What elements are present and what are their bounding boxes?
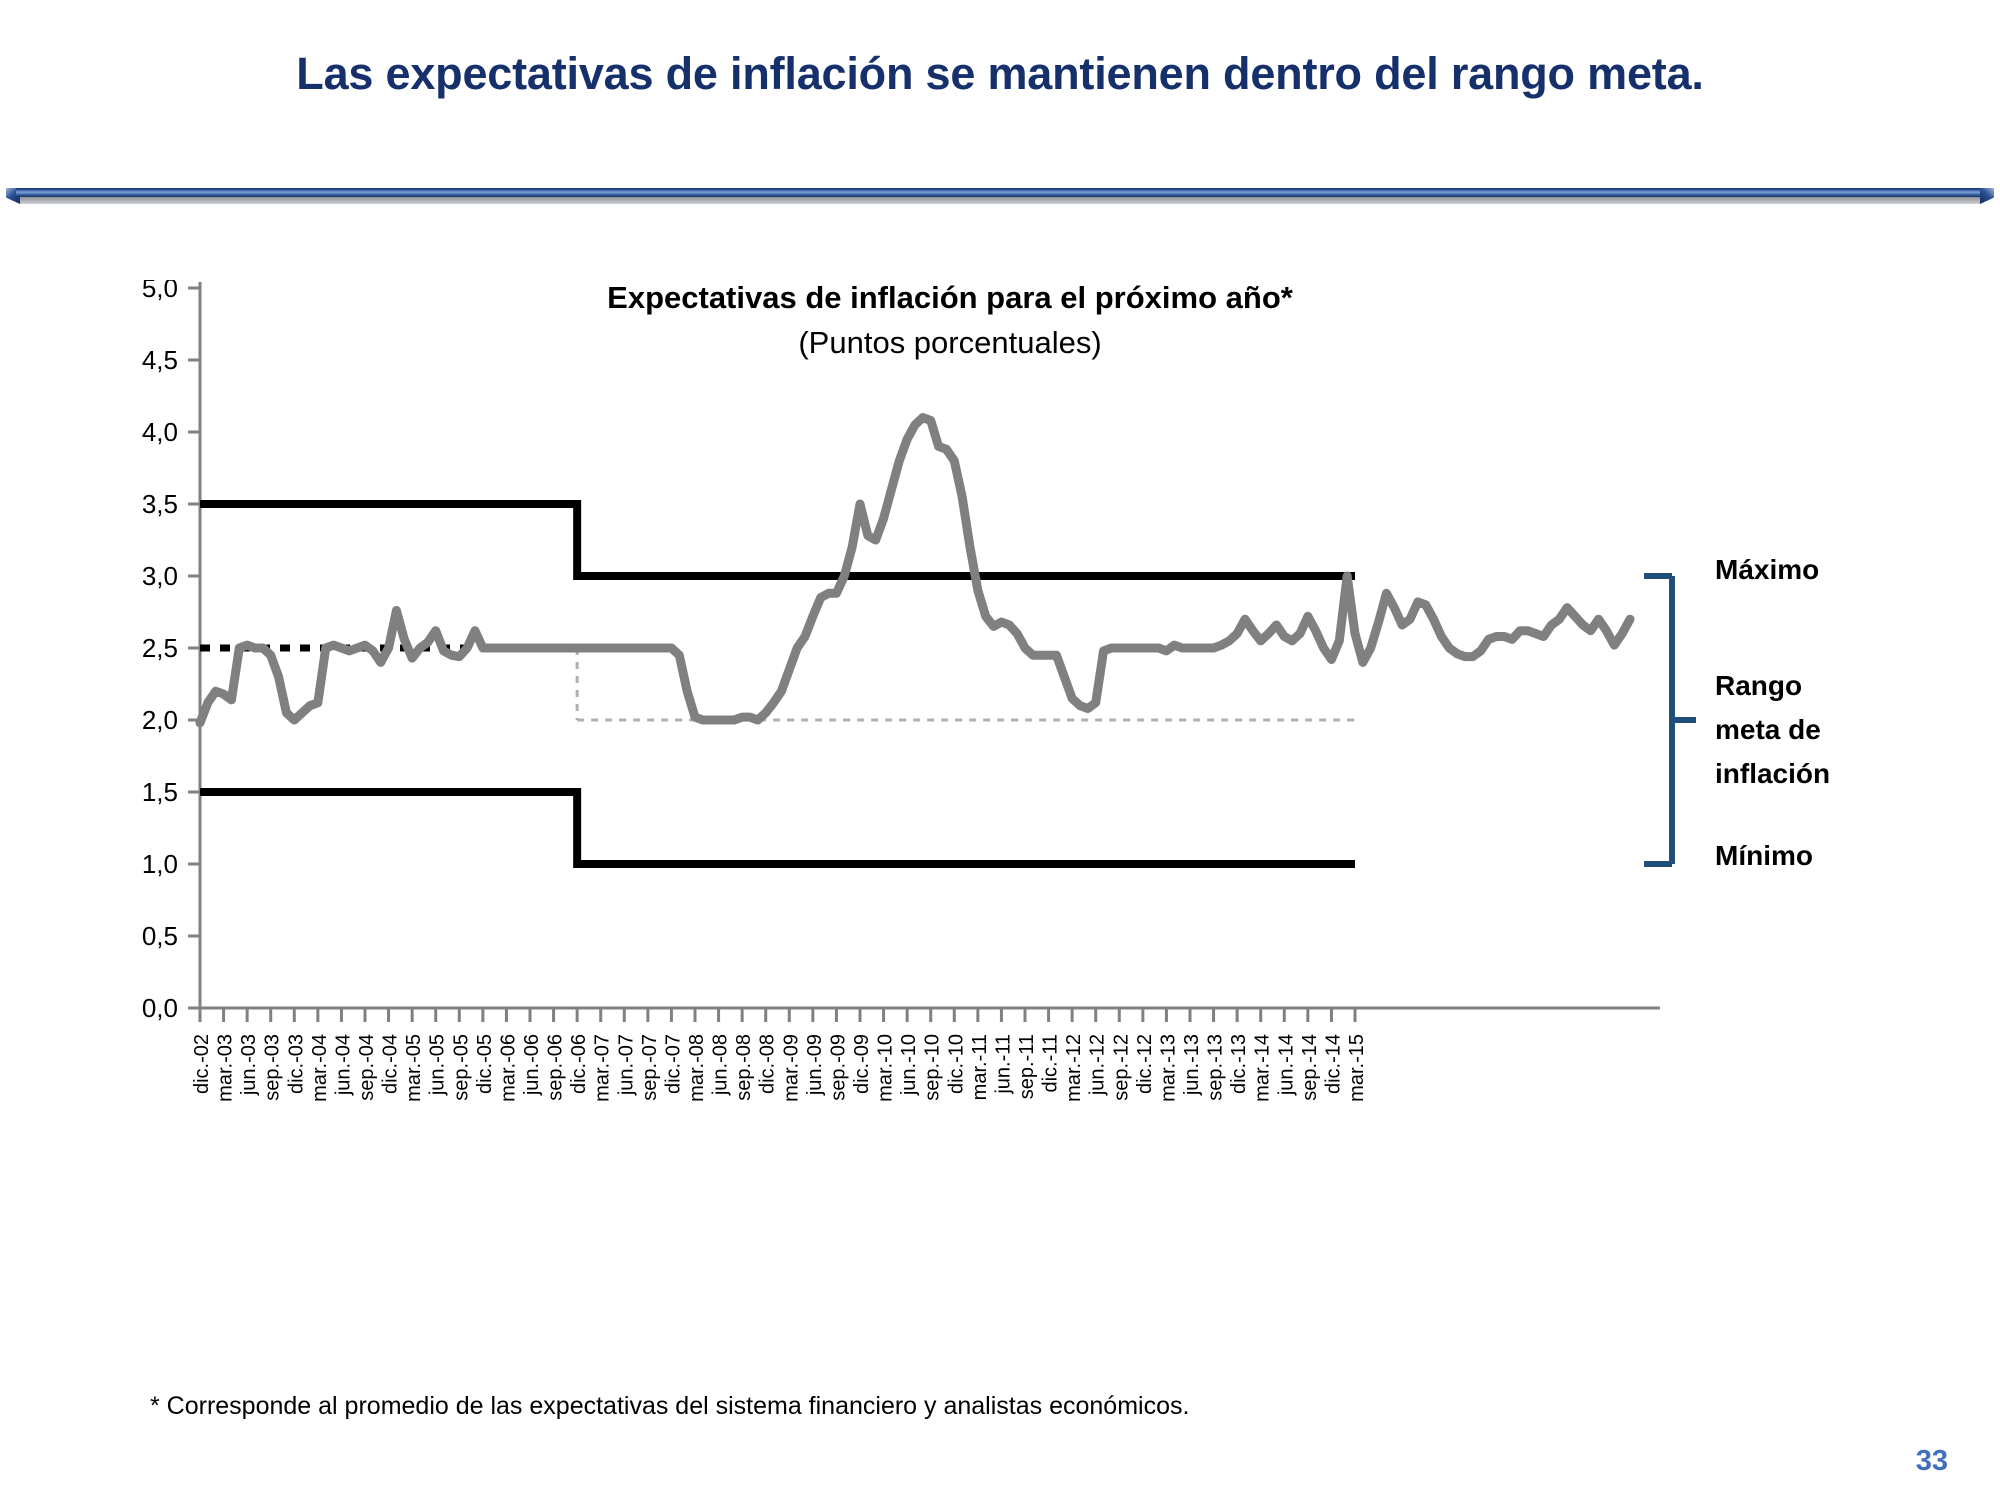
svg-text:mar.-07: mar.-07 — [592, 1034, 614, 1102]
divider-blue-bar — [16, 188, 1984, 197]
svg-text:mar.-15: mar.-15 — [1346, 1034, 1368, 1102]
svg-text:1,0: 1,0 — [142, 849, 178, 879]
svg-text:jun.-08: jun.-08 — [710, 1034, 732, 1096]
label-rango-3: inflación — [1715, 758, 1830, 790]
chart-plot: 5,04,54,03,53,02,52,01,51,00,50,0 dic.-0… — [0, 280, 2000, 1400]
svg-text:mar.-14: mar.-14 — [1252, 1034, 1274, 1102]
footnote: * Corresponde al promedio de las expecta… — [150, 1392, 1189, 1421]
label-rango-2: meta de — [1715, 714, 1821, 746]
svg-text:jun.-07: jun.-07 — [615, 1034, 637, 1096]
slide-root: Las expectativas de inflación se mantien… — [0, 0, 2000, 1500]
svg-text:jun.-09: jun.-09 — [804, 1034, 826, 1096]
svg-text:2,0: 2,0 — [142, 705, 178, 735]
divider-right-cap — [1980, 188, 1994, 204]
x-axis: dic.-02mar.-03jun.-03sep.-03dic.-03mar.-… — [191, 1008, 1660, 1102]
svg-text:sep.-08: sep.-08 — [733, 1034, 755, 1101]
expectations-series — [200, 418, 1630, 723]
svg-text:dic.-08: dic.-08 — [757, 1034, 779, 1094]
svg-text:0,0: 0,0 — [142, 993, 178, 1023]
svg-text:sep.-04: sep.-04 — [356, 1034, 378, 1101]
svg-text:jun.-14: jun.-14 — [1275, 1034, 1297, 1096]
svg-text:mar.-10: mar.-10 — [875, 1034, 897, 1102]
svg-text:dic.-09: dic.-09 — [851, 1034, 873, 1094]
svg-text:sep.-05: sep.-05 — [450, 1034, 472, 1101]
svg-text:0,5: 0,5 — [142, 921, 178, 951]
svg-text:sep.-14: sep.-14 — [1299, 1034, 1321, 1101]
svg-text:2,5: 2,5 — [142, 633, 178, 663]
svg-text:mar.-08: mar.-08 — [686, 1034, 708, 1102]
svg-text:jun.-05: jun.-05 — [427, 1034, 449, 1096]
chart-container: Expectativas de inflación para el próxim… — [0, 280, 2000, 1400]
svg-text:dic.-02: dic.-02 — [191, 1034, 213, 1094]
svg-text:mar.-13: mar.-13 — [1157, 1034, 1179, 1102]
svg-text:mar.-03: mar.-03 — [215, 1034, 237, 1102]
svg-text:jun.-11: jun.-11 — [992, 1034, 1014, 1095]
label-maximo: Máximo — [1715, 554, 1819, 586]
svg-text:dic.-13: dic.-13 — [1228, 1034, 1250, 1094]
title-divider — [6, 188, 1994, 206]
svg-text:jun.-06: jun.-06 — [521, 1034, 543, 1096]
svg-text:1,5: 1,5 — [142, 777, 178, 807]
svg-text:jun.-03: jun.-03 — [238, 1034, 260, 1096]
page-number: 33 — [1916, 1445, 1948, 1478]
y-axis: 5,04,54,03,53,02,52,01,51,00,50,0 — [142, 280, 200, 1023]
svg-text:dic.-14: dic.-14 — [1322, 1034, 1344, 1094]
svg-text:dic.-10: dic.-10 — [945, 1034, 967, 1094]
svg-text:jun.-13: jun.-13 — [1181, 1034, 1203, 1096]
range-bracket — [1644, 576, 1696, 864]
svg-text:4,0: 4,0 — [142, 417, 178, 447]
label-minimo: Mínimo — [1715, 840, 1813, 872]
svg-text:jun.-12: jun.-12 — [1087, 1034, 1109, 1096]
svg-text:sep.-03: sep.-03 — [262, 1034, 284, 1101]
svg-text:dic.-04: dic.-04 — [380, 1034, 402, 1094]
label-rango-1: Rango — [1715, 670, 1802, 702]
svg-text:3,5: 3,5 — [142, 489, 178, 519]
svg-text:mar.-06: mar.-06 — [497, 1034, 519, 1102]
svg-text:sep.-11: sep.-11 — [1016, 1034, 1038, 1099]
svg-text:sep.-09: sep.-09 — [827, 1034, 849, 1101]
divider-gray-bar — [20, 197, 1980, 204]
svg-text:5,0: 5,0 — [142, 280, 178, 303]
svg-text:sep.-10: sep.-10 — [922, 1034, 944, 1101]
svg-text:dic.-06: dic.-06 — [568, 1034, 590, 1094]
svg-text:sep.-12: sep.-12 — [1110, 1034, 1132, 1101]
svg-text:3,0: 3,0 — [142, 561, 178, 591]
svg-text:dic.-11: dic.-11 — [1040, 1034, 1062, 1093]
svg-text:sep.-07: sep.-07 — [639, 1034, 661, 1101]
svg-text:mar.-09: mar.-09 — [780, 1034, 802, 1102]
svg-text:mar.-11: mar.-11 — [969, 1034, 991, 1100]
svg-text:mar.-04: mar.-04 — [309, 1034, 331, 1102]
svg-text:jun.-04: jun.-04 — [332, 1034, 354, 1096]
svg-text:dic.-07: dic.-07 — [662, 1034, 684, 1094]
svg-text:sep.-06: sep.-06 — [545, 1034, 567, 1101]
svg-text:jun.-10: jun.-10 — [898, 1034, 920, 1096]
page-title: Las expectativas de inflación se mantien… — [0, 48, 2000, 100]
svg-text:dic.-12: dic.-12 — [1134, 1034, 1156, 1094]
svg-text:mar.-12: mar.-12 — [1063, 1034, 1085, 1102]
svg-text:4,5: 4,5 — [142, 345, 178, 375]
svg-text:sep.-13: sep.-13 — [1205, 1034, 1227, 1101]
target-range-bounds — [200, 504, 1355, 864]
svg-text:dic.-05: dic.-05 — [474, 1034, 496, 1094]
svg-text:mar.-05: mar.-05 — [403, 1034, 425, 1102]
svg-text:dic.-03: dic.-03 — [285, 1034, 307, 1094]
